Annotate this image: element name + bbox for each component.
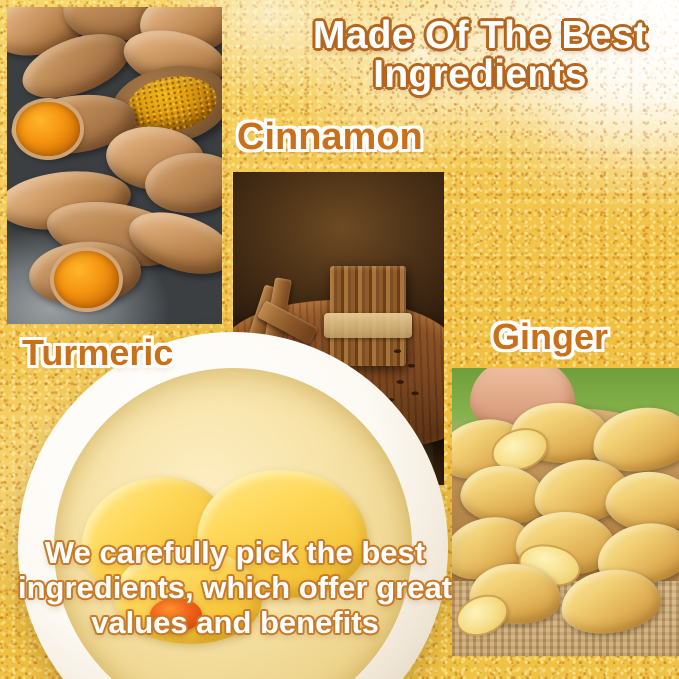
caption-text: We carefully pick the best ingredients, … xyxy=(14,535,456,640)
ginger-photo xyxy=(452,368,679,656)
page-title-line-2: Ingredients xyxy=(288,55,672,94)
label-cinnamon: Cinnamon xyxy=(237,116,423,159)
product-infographic: Made Of The Best Ingredients Cinnamon Tu… xyxy=(0,0,679,679)
caption-line-1: We carefully pick the best xyxy=(14,535,456,570)
label-ginger: Ginger xyxy=(492,316,608,358)
label-turmeric: Turmeric xyxy=(22,332,173,374)
page-title: Made Of The Best Ingredients xyxy=(288,16,672,94)
caption-line-3: values and benefits xyxy=(14,605,456,640)
page-title-line-1: Made Of The Best xyxy=(288,16,672,55)
caption-line-2: ingredients, which offer great xyxy=(14,570,456,605)
turmeric-photo xyxy=(7,7,222,324)
turmeric-cut-slice xyxy=(54,251,119,308)
turmeric-cut-slice xyxy=(16,102,81,156)
